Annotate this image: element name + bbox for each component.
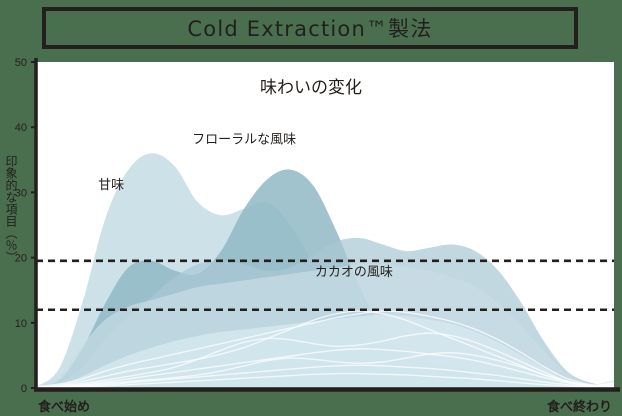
annotation-label-1: 甘味	[98, 178, 124, 193]
chart-canvas: 01020304050 印象的な項目（％） 味わいの変化 甘味フローラルな風味カ…	[0, 55, 622, 416]
taste-change-chart: 01020304050 印象的な項目（％） 味わいの変化 甘味フローラルな風味カ…	[0, 55, 622, 416]
chart-title: 味わいの変化	[260, 78, 362, 98]
y-axis-title: 印象的な項目（％）	[4, 155, 18, 263]
x-tick-label-start: 食べ始め	[38, 399, 90, 415]
y-tick-label: 40	[15, 122, 27, 134]
annotation-label-2: フローラルな風味	[192, 133, 296, 148]
annotation-label-3: カカオの風味	[315, 265, 393, 280]
y-tick-label: 10	[15, 318, 27, 330]
y-tick-label: 50	[15, 57, 27, 69]
page-title: Cold Extraction™製法	[187, 13, 432, 43]
x-tick-label-end: 食べ終わり	[547, 399, 612, 415]
y-tick-label: 0	[21, 383, 27, 395]
title-banner: Cold Extraction™製法	[42, 7, 578, 49]
